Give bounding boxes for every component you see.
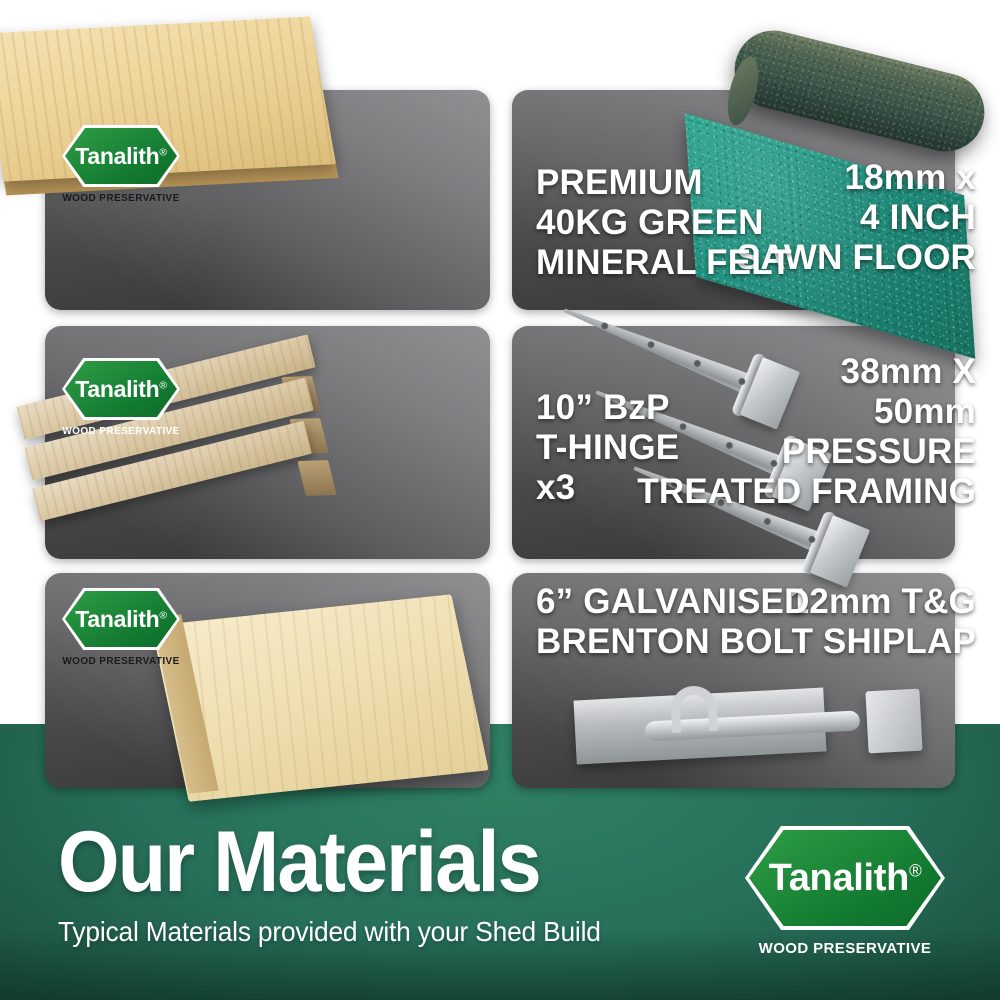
caption-mineral-felt: PREMIUM 40KG GREEN MINERAL FELT xyxy=(536,163,792,283)
page-title: Our Materials xyxy=(58,822,589,904)
tanalith-hexagon-icon: Tanalith® xyxy=(62,588,180,650)
tanalith-logo-small: Tanalith® WOOD PRESERVATIVE xyxy=(62,125,180,204)
caption-line: MINERAL FELT xyxy=(536,243,792,283)
caption-line: PREMIUM xyxy=(536,163,792,203)
caption-line: 10” BzP xyxy=(536,388,679,428)
caption-line: 40KG GREEN xyxy=(536,203,792,243)
registered-mark-icon: ® xyxy=(159,610,166,621)
page-subtitle: Typical Materials provided with your She… xyxy=(58,916,601,948)
tanalith-tagline: WOOD PRESERVATIVE xyxy=(62,656,180,667)
caption-line: T-HINGE xyxy=(536,428,679,468)
tanalith-hexagon-icon: Tanalith® xyxy=(745,826,945,930)
caption-brenton-bolt: 6” GALVANISED BRENTON BOLT xyxy=(536,582,813,662)
caption-line: 38mm X xyxy=(637,352,976,392)
caption-line: x3 xyxy=(536,468,679,508)
tanalith-tagline: WOOD PRESERVATIVE xyxy=(62,193,180,204)
caption-line: TREATED FRAMING xyxy=(637,472,976,512)
caption-t-hinge: 10” BzP T-HINGE x3 xyxy=(536,388,679,508)
tanalith-tagline: WOOD PRESERVATIVE xyxy=(745,940,945,957)
tanalith-tagline: WOOD PRESERVATIVE xyxy=(62,426,180,437)
registered-mark-icon: ® xyxy=(159,147,166,158)
caption-line: BRENTON BOLT xyxy=(536,622,813,662)
tanalith-logo-small: Tanalith® WOOD PRESERVATIVE xyxy=(62,588,180,667)
tanalith-logo-large: Tanalith® WOOD PRESERVATIVE xyxy=(745,826,945,957)
caption-pressure-treated-framing: 38mm X 50mm PRESSURE TREATED FRAMING xyxy=(637,352,976,512)
tanalith-logo-small: Tanalith® WOOD PRESERVATIVE xyxy=(62,358,180,437)
registered-mark-icon: ® xyxy=(159,380,166,391)
tanalith-hexagon-icon: Tanalith® xyxy=(62,358,180,420)
tanalith-wordmark: Tanalith® xyxy=(75,376,166,403)
caption-line: 50mm xyxy=(637,392,976,432)
caption-shiplap: 12mm T&G SHIPLAP xyxy=(790,582,976,662)
materials-infographic: Tanalith® WOOD PRESERVATIVE 18mm x 4 INC… xyxy=(0,0,1000,1000)
banner-text-block: Our Materials Typical Materials provided… xyxy=(58,822,635,948)
registered-mark-icon: ® xyxy=(909,861,921,880)
caption-line: PRESSURE xyxy=(637,432,976,472)
caption-line: 12mm T&G xyxy=(790,582,976,622)
caption-line: SHIPLAP xyxy=(790,622,976,662)
caption-line: 6” GALVANISED xyxy=(536,582,813,622)
tanalith-wordmark: Tanalith® xyxy=(75,143,166,170)
tanalith-hexagon-icon: Tanalith® xyxy=(62,125,180,187)
tanalith-wordmark: Tanalith® xyxy=(75,606,166,633)
tanalith-wordmark: Tanalith® xyxy=(769,857,922,900)
